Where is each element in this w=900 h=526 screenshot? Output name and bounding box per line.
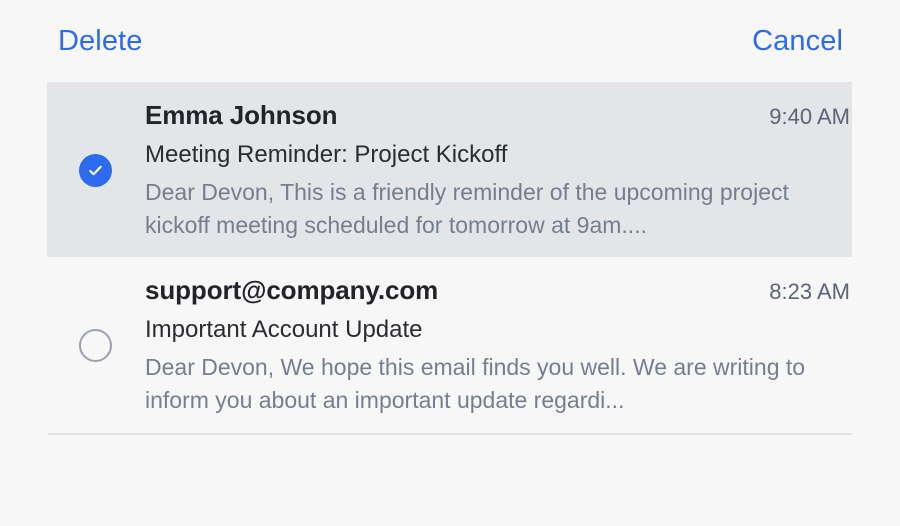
sender-name: Emma Johnson bbox=[145, 100, 337, 131]
delete-button[interactable]: Delete bbox=[58, 27, 142, 56]
check-circle-filled-icon[interactable] bbox=[79, 154, 112, 187]
message-row[interactable]: support@company.com 8:23 AM Important Ac… bbox=[47, 257, 852, 432]
toolbar: Delete Cancel bbox=[0, 0, 900, 82]
selection-column bbox=[47, 329, 145, 362]
message-content: Emma Johnson 9:40 AM Meeting Reminder: P… bbox=[145, 100, 852, 241]
message-preview: Dear Devon, This is a friendly reminder … bbox=[145, 176, 825, 241]
message-row[interactable]: Emma Johnson 9:40 AM Meeting Reminder: P… bbox=[47, 82, 852, 257]
message-subject: Important Account Update bbox=[145, 315, 850, 344]
selection-column bbox=[47, 154, 145, 187]
list-divider bbox=[48, 433, 852, 435]
sender-name: support@company.com bbox=[145, 275, 438, 306]
message-preview: Dear Devon, We hope this email finds you… bbox=[145, 351, 825, 416]
message-subject: Meeting Reminder: Project Kickoff bbox=[145, 140, 850, 169]
message-list: Emma Johnson 9:40 AM Meeting Reminder: P… bbox=[0, 82, 900, 435]
cancel-button[interactable]: Cancel bbox=[752, 27, 843, 56]
email-selection-screen: Delete Cancel Emma Johnson 9:40 AM Meeti… bbox=[0, 0, 900, 526]
message-header: support@company.com 8:23 AM bbox=[145, 275, 850, 306]
message-content: support@company.com 8:23 AM Important Ac… bbox=[145, 275, 852, 416]
message-timestamp: 9:40 AM bbox=[769, 104, 850, 130]
message-timestamp: 8:23 AM bbox=[769, 279, 850, 305]
circle-outline-icon[interactable] bbox=[79, 329, 112, 362]
message-header: Emma Johnson 9:40 AM bbox=[145, 100, 850, 131]
